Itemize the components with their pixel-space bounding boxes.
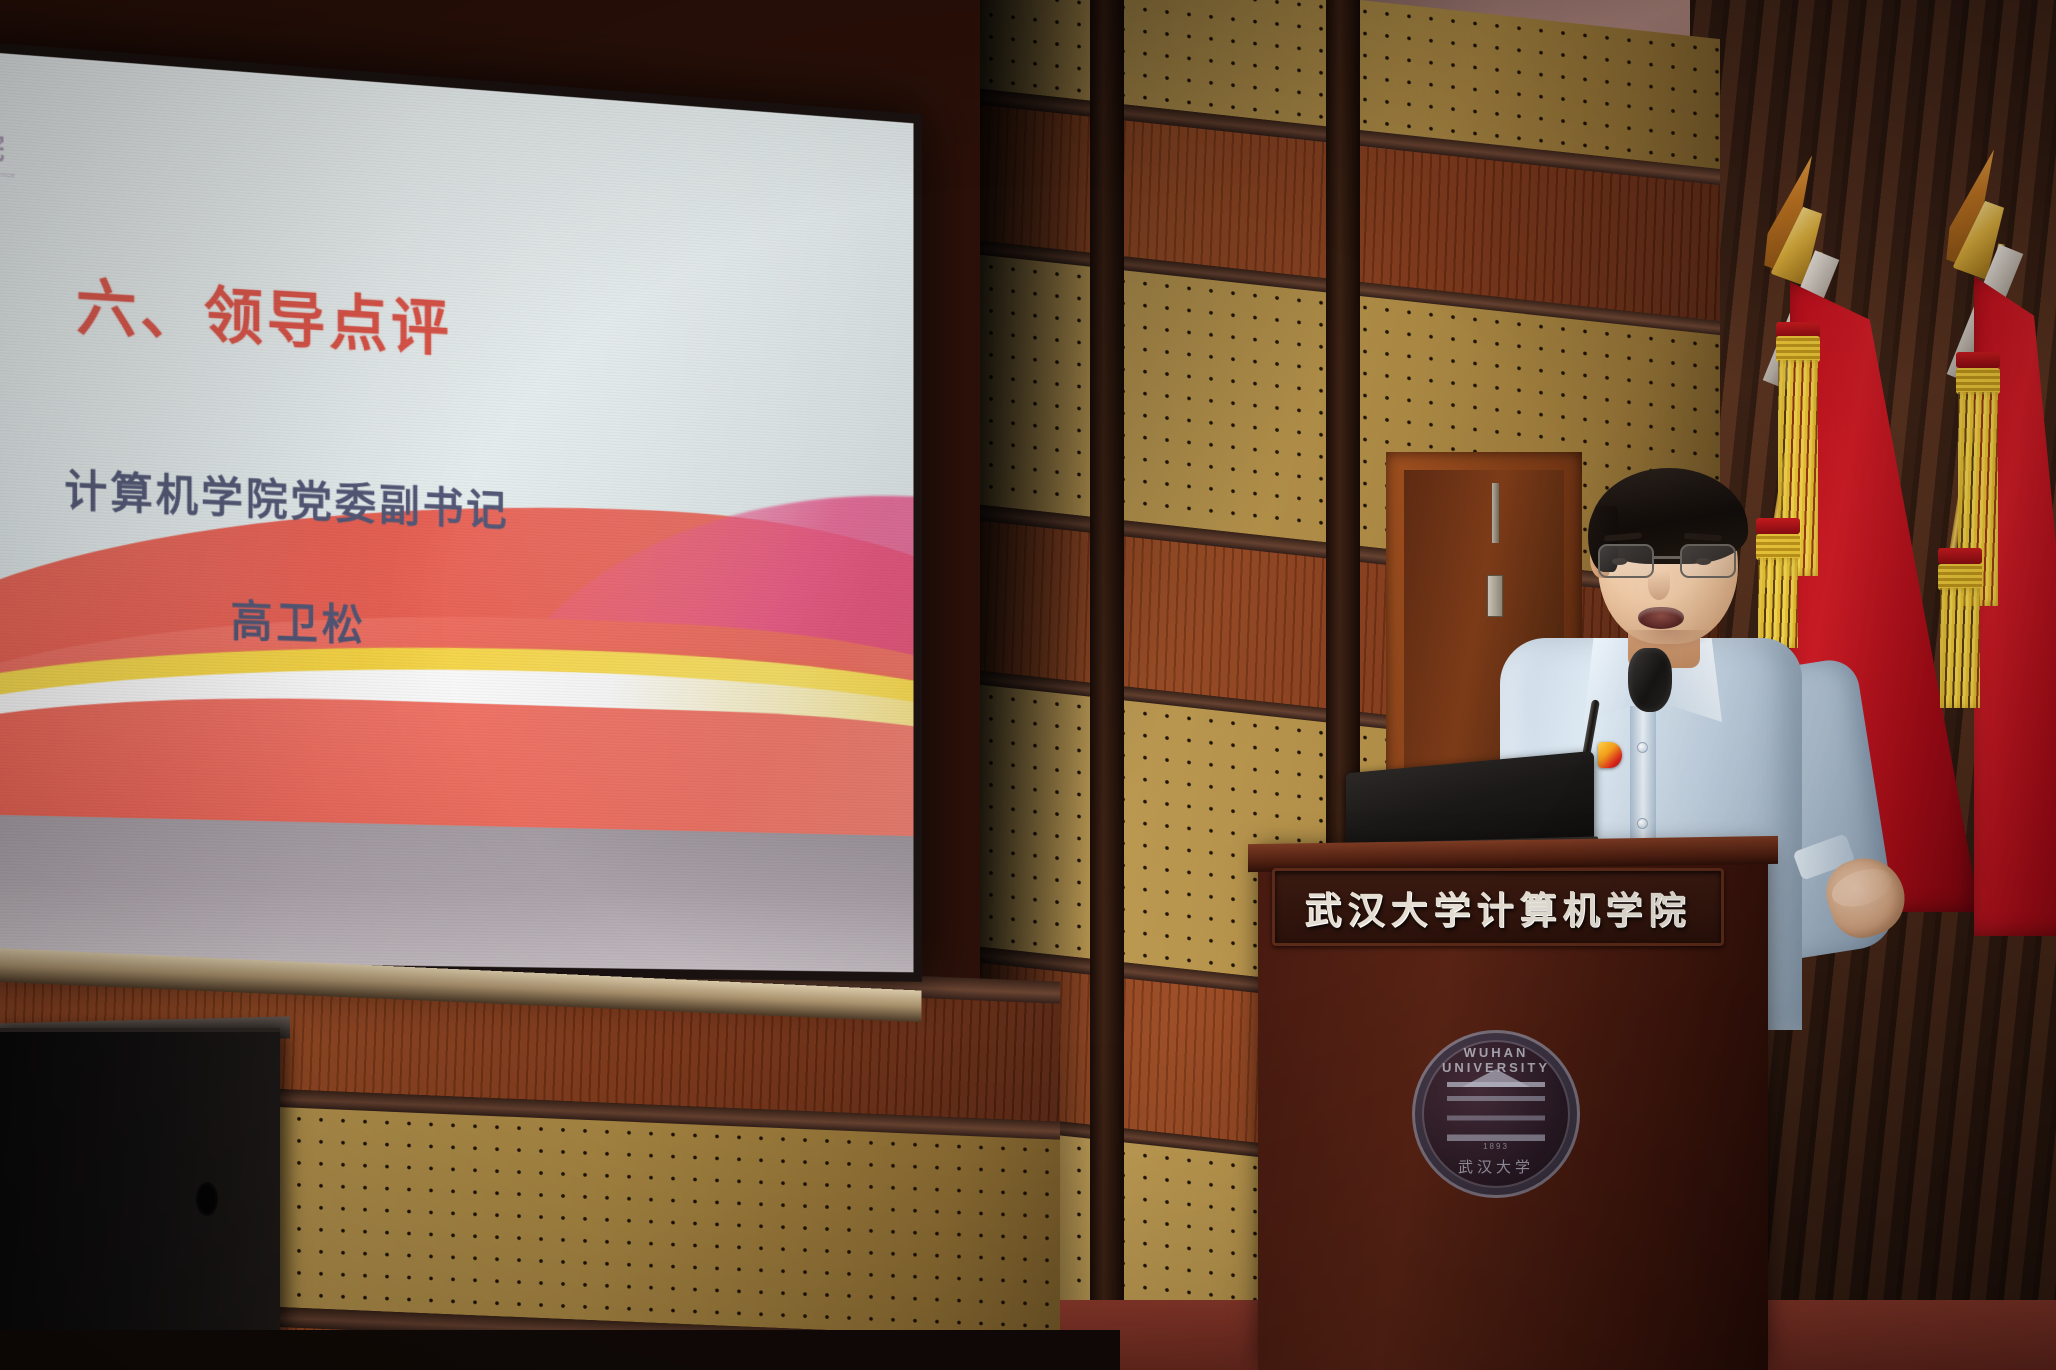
photo-scene: 学院 Computer Science 六、领导点评 计算机学院党委副书记 高卫… (0, 0, 2056, 1370)
flag-tassel-lower (1940, 588, 1980, 708)
projection-screen: 学院 Computer Science 六、领导点评 计算机学院党委副书记 高卫… (0, 40, 922, 982)
slide-logo-chinese: 学院 (0, 119, 39, 170)
shirt-button (1637, 742, 1648, 753)
tassel-band-mid (1938, 564, 1982, 590)
glasses-bridge (1654, 556, 1682, 559)
slide-logo: 学院 Computer Science (0, 119, 39, 182)
chin-shadow (1620, 630, 1716, 652)
mouth (1638, 607, 1684, 629)
microphone-head-icon (1628, 648, 1672, 712)
emblem-gate-building (1447, 1082, 1544, 1147)
university-emblem-icon: WUHAN UNIVERSITY 1893 武汉大学 (1412, 1030, 1580, 1198)
shirt-button (1637, 818, 1648, 829)
tassel-ring-top (1956, 352, 2000, 368)
slide-bottom-bar (0, 815, 913, 973)
screen-surface: 学院 Computer Science 六、领导点评 计算机学院党委副书记 高卫… (0, 51, 913, 973)
tassel-band-top (1776, 336, 1820, 362)
slide-title: 六、领导点评 (76, 257, 674, 380)
lectern-nameplate: 武汉大学计算机学院 (1272, 868, 1724, 946)
emblem-year-text: 1893 (1415, 1142, 1577, 1151)
presentation-slide: 学院 Computer Science 六、领导点评 计算机学院党委副书记 高卫… (0, 51, 913, 973)
loudspeaker-handle-icon (196, 1182, 218, 1216)
party-emblem-pin-icon (1598, 742, 1622, 768)
tassel-ring-mid (1938, 548, 1982, 564)
emblem-chinese-text: 武汉大学 (1415, 1156, 1577, 1177)
nose (1648, 570, 1670, 600)
floor-shadow (0, 1330, 1120, 1370)
tassel-band-top (1956, 368, 2000, 394)
lens-right (1680, 544, 1736, 578)
loudspeaker-cabinet (0, 1028, 280, 1370)
lectern-nameplate-text: 武汉大学计算机学院 (1305, 880, 1692, 934)
lens-left (1598, 544, 1654, 578)
